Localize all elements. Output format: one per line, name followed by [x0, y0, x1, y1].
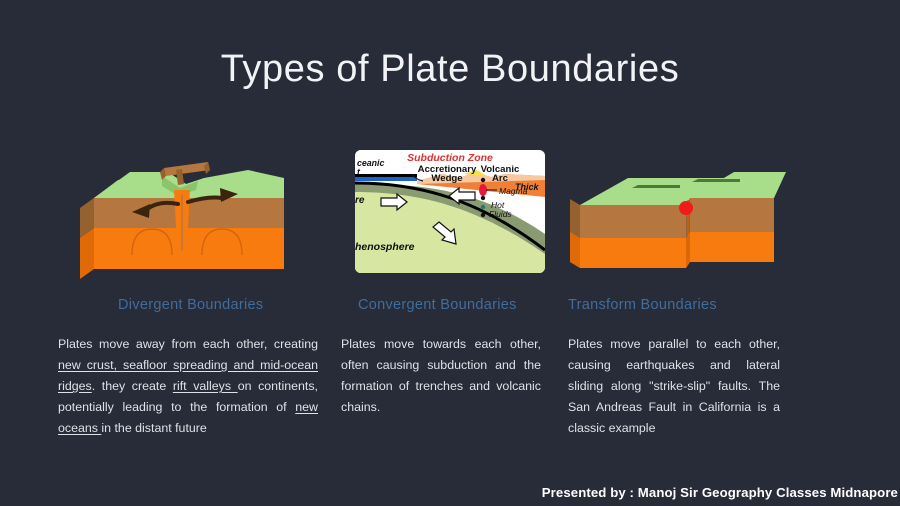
hot-fluid-dot-2: [481, 213, 485, 217]
oceanic-crust-outline: [355, 174, 417, 177]
label-hot-fluids-line2: Fluids: [489, 209, 512, 219]
divergent-right-crust-front: [228, 198, 284, 228]
divergent-boundary-block-diagram: [58, 150, 320, 285]
divergent-block-svg: [58, 150, 320, 285]
hot-fluid-dot-1: [481, 205, 485, 209]
heading-transform-boundaries: Transform Boundaries: [568, 297, 717, 313]
presenter-credit: Presented by : Manoj Sir Geography Class…: [542, 485, 898, 500]
transform-fault-trace-right: [692, 179, 740, 182]
label-accretionary-wedge-line2: Wedge: [431, 173, 462, 184]
label-asthenosphere-clipped: henosphere: [355, 241, 415, 253]
text-run: Plates move towards each other, often ca…: [341, 337, 541, 414]
epicenter-dot-icon: [679, 201, 693, 215]
transform-left-mantle-front: [580, 238, 686, 268]
magma-chamber: [479, 184, 487, 196]
paragraph-divergent: Plates move away from each other, creati…: [58, 334, 318, 439]
text-run: Plates move parallel to each other, caus…: [568, 337, 780, 435]
transform-block-svg: [568, 150, 786, 285]
transform-fault-trace-left: [632, 185, 680, 188]
convergent-panel-svg: Subduction Zone Accretionary Wedge Volca…: [355, 150, 545, 273]
emphasis-underline: rift valleys: [173, 379, 238, 393]
heading-convergent-boundaries: Convergent Boundaries: [358, 297, 517, 313]
transform-right-mantle-front: [690, 232, 774, 262]
page-title: Types of Plate Boundaries: [0, 48, 900, 91]
label-magma: Magma: [499, 186, 528, 196]
label-subduction-zone: Subduction Zone: [407, 152, 493, 164]
transform-boundary-block-diagram: [568, 150, 786, 285]
divergent-ridge-bar: [164, 162, 210, 176]
label-oceanic-crust-clipped: ceanic: [357, 158, 384, 168]
heading-divergent-boundaries: Divergent Boundaries: [118, 297, 263, 313]
convergent-boundary-subduction-diagram: Subduction Zone Accretionary Wedge Volca…: [355, 150, 545, 273]
transform-left-side-mantle: [570, 232, 580, 268]
text-run: . they create: [92, 379, 173, 393]
column-transform: [568, 150, 786, 285]
slide-canvas: Types of Plate Boundaries: [0, 0, 900, 506]
label-lithosphere-clipped: re: [355, 195, 365, 206]
paragraph-convergent: Plates move towards each other, often ca…: [341, 334, 541, 418]
oceanic-crust-strip: [355, 177, 417, 181]
magma-conduit-dot-2: [481, 196, 485, 200]
column-divergent: [58, 150, 320, 285]
text-run: Plates move away from each other, creati…: [58, 337, 318, 351]
paragraph-transform: Plates move parallel to each other, caus…: [568, 334, 780, 439]
text-run: in the distant future: [101, 421, 206, 435]
magma-conduit-dot-1: [481, 178, 485, 182]
label-volcanic-arc-line2: Arc: [492, 173, 509, 184]
